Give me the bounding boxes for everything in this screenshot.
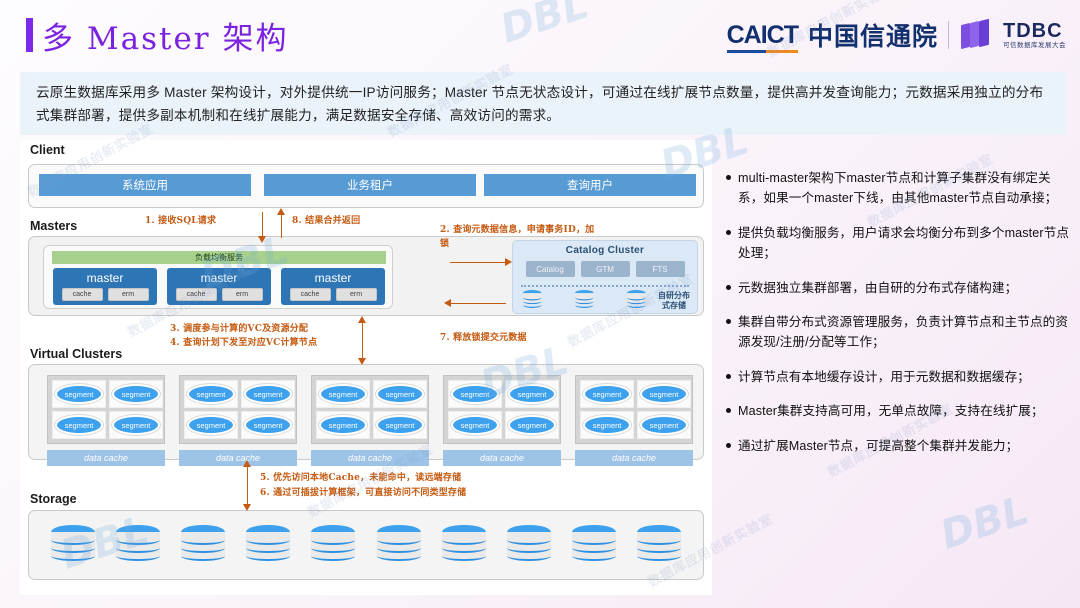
client-button-2[interactable]: 查询用户	[484, 174, 696, 196]
vc-group-2-data-cache: data cache	[311, 450, 429, 466]
vc-group-1-data-cache: data cache	[179, 450, 297, 466]
master-node-0-title: master	[53, 271, 157, 285]
storage-disk-icon	[311, 525, 355, 565]
vc-group-2[interactable]: segment segment segment segment data cac…	[311, 375, 429, 466]
client-button-0[interactable]: 系统应用	[39, 174, 251, 196]
intro-text: 云原生数据库采用多 Master 架构设计，对外提供统一IP访问服务；Maste…	[36, 81, 1050, 128]
bullet-dot-icon	[726, 285, 731, 290]
database-icon	[575, 290, 594, 304]
storage-disk-icon	[181, 525, 225, 565]
vc-group-3-data-cache: data cache	[443, 450, 561, 466]
section-label-virtual-clusters: Virtual Clusters	[30, 347, 122, 361]
annotation-2-line2: 锁	[440, 236, 449, 249]
bullet-text: multi-master架构下master节点和计算子集群没有绑定关系，如果一个…	[738, 168, 1070, 209]
catalog-cluster-title: Catalog Cluster	[513, 245, 697, 256]
vc-group-1[interactable]: segment segment segment segment data cac…	[179, 375, 297, 466]
catalog-chip-row: Catalog GTM FTS	[513, 261, 697, 277]
storage-layer-panel	[28, 510, 704, 580]
bullet-dot-icon	[726, 319, 731, 324]
bullet-item: 计算节点有本地缓存设计，用于元数据和数据缓存；	[726, 367, 1070, 387]
segment-node: segment	[640, 415, 688, 435]
vc-group-3[interactable]: segment segment segment segment data cac…	[443, 375, 561, 466]
load-balancer-bar: 负载均衡服务	[52, 251, 386, 264]
tdbc-book-icon	[959, 20, 993, 50]
segment-node: segment	[583, 415, 631, 435]
vc-group-4-segments: segment segment segment segment	[575, 375, 693, 444]
flow-arrow-2-line	[450, 262, 506, 263]
bullet-dot-icon	[726, 408, 731, 413]
segment-node: segment	[508, 384, 556, 404]
segment-node: segment	[451, 415, 499, 435]
segment-node: segment	[55, 384, 103, 404]
segment-node: segment	[376, 384, 424, 404]
vc-group-2-segments: segment segment segment segment	[311, 375, 429, 444]
segment-node: segment	[244, 415, 292, 435]
flow-arrow-56-head-down	[243, 504, 251, 511]
masters-inner-box: 负载均衡服务 master cache erm master cache erm…	[43, 245, 393, 309]
catalog-cluster-panel: Catalog Cluster Catalog GTM FTS 自研分布式存储	[512, 240, 698, 314]
annotation-5: 5. 优先访问本地Cache，未能命中，读远端存储	[260, 470, 461, 483]
vc-group-3-segments: segment segment segment segment	[443, 375, 561, 444]
vc-group-0[interactable]: segment segment segment segment data cac…	[47, 375, 165, 466]
bullet-text: 集群自带分布式资源管理服务，负责计算节点和主节点的资源发现/注册/分配等工作；	[738, 312, 1070, 353]
annotation-7: 7. 释放锁提交元数据	[440, 330, 527, 343]
annotation-3: 3. 调度参与计算的VC及资源分配	[170, 321, 308, 334]
bullet-item: 通过扩展Master节点，可提高整个集群并发能力；	[726, 436, 1070, 456]
caict-logo-mark: CAICT	[727, 21, 798, 50]
master-node-2-pill-cache: cache	[290, 288, 331, 301]
bullet-item: Master集群支持高可用，无单点故障，支持在线扩展；	[726, 401, 1070, 421]
vc-group-0-segments: segment segment segment segment	[47, 375, 165, 444]
bullet-text: 通过扩展Master节点，可提高整个集群并发能力；	[738, 436, 1018, 456]
storage-disk-row	[51, 525, 681, 565]
annotation-8: 8. 结果合并返回	[292, 213, 360, 226]
segment-node: segment	[55, 415, 103, 435]
logo-divider	[948, 21, 949, 49]
storage-disk-icon	[377, 525, 421, 565]
catalog-chip-fts[interactable]: FTS	[636, 261, 685, 277]
vc-group-0-data-cache: data cache	[47, 450, 165, 466]
segment-node: segment	[319, 384, 367, 404]
master-node-0[interactable]: master cache erm	[53, 268, 157, 305]
feature-bullet-list: multi-master架构下master节点和计算子集群没有绑定关系，如果一个…	[726, 168, 1070, 470]
bullet-item: 元数据独立集群部署，由自研的分布式存储构建；	[726, 278, 1070, 298]
master-node-0-pill-cache: cache	[62, 288, 103, 301]
segment-node: segment	[244, 384, 292, 404]
flow-arrow-34-head-down	[358, 358, 366, 365]
vc-group-4-data-cache: data cache	[575, 450, 693, 466]
vc-group-1-segments: segment segment segment segment	[179, 375, 297, 444]
segment-node: segment	[583, 384, 631, 404]
bullet-item: 集群自带分布式资源管理服务，负责计算节点和主节点的资源发现/注册/分配等工作；	[726, 312, 1070, 353]
storage-disk-icon	[116, 525, 160, 565]
title-accent-bar	[26, 18, 33, 52]
master-node-0-pill-erm: erm	[108, 288, 149, 301]
virtual-clusters-layer-panel: segment segment segment segment data cac…	[28, 364, 704, 460]
client-layer-panel: 系统应用 业务租户 查询用户	[28, 164, 704, 208]
watermark-logo: DBL	[935, 487, 1034, 558]
bullet-text: 计算节点有本地缓存设计，用于元数据和数据缓存；	[738, 367, 1030, 387]
flow-arrow-7-head	[444, 299, 451, 307]
storage-disk-icon	[637, 525, 681, 565]
vc-group-4[interactable]: segment segment segment segment data cac…	[575, 375, 693, 466]
segment-node: segment	[640, 384, 688, 404]
bullet-text: 元数据独立集群部署，由自研的分布式存储构建；	[738, 278, 1017, 298]
section-label-masters: Masters	[30, 219, 77, 233]
caict-logo-cn: 中国信通院	[808, 17, 938, 53]
annotation-2-line1: 2. 查询元数据信息，申请事务ID，加	[440, 222, 594, 235]
master-node-1[interactable]: master cache erm	[167, 268, 271, 305]
storage-disk-icon	[51, 525, 95, 565]
flow-arrow-1-line	[262, 212, 263, 238]
master-node-1-pill-erm: erm	[222, 288, 263, 301]
flow-arrow-34-head-up	[358, 316, 366, 323]
flow-arrow-2-head	[505, 258, 512, 266]
flow-arrow-56-line	[247, 464, 248, 506]
catalog-divider	[521, 285, 689, 287]
storage-disk-icon	[246, 525, 290, 565]
tdbc-subtitle: 可信数据库发展大会	[1003, 43, 1066, 50]
segment-node: segment	[112, 415, 160, 435]
bullet-dot-icon	[726, 443, 731, 448]
annotation-6: 6. 通过可插拔计算框架，可直接访问不同类型存储	[260, 485, 466, 498]
intro-banner: 云原生数据库采用多 Master 架构设计，对外提供统一IP访问服务；Maste…	[20, 72, 1066, 135]
flow-arrow-1-head	[258, 236, 266, 243]
header-logos: CAICT 中国信通院 TDBC 可信数据库发展大会	[727, 17, 1066, 53]
flow-arrow-7-line	[450, 303, 506, 304]
master-node-2[interactable]: master cache erm	[281, 268, 385, 305]
annotation-4: 4. 查询计划下发至对应VC计算节点	[170, 335, 317, 348]
flow-arrow-8-head	[277, 208, 285, 215]
bullet-text: 提供负载均衡服务，用户请求会均衡分布到多个master节点处理；	[738, 223, 1070, 264]
master-node-2-pill-erm: erm	[336, 288, 377, 301]
architecture-diagram: Client 系统应用 业务租户 查询用户 Masters 负载均衡服务 mas…	[20, 140, 712, 595]
segment-node: segment	[319, 415, 367, 435]
flow-arrow-56-head-up	[243, 460, 251, 467]
catalog-disk-row	[523, 290, 657, 312]
segment-node: segment	[508, 415, 556, 435]
storage-disk-icon	[572, 525, 616, 565]
master-node-2-title: master	[281, 271, 385, 285]
client-button-1[interactable]: 业务租户	[264, 174, 476, 196]
segment-node: segment	[187, 384, 235, 404]
catalog-storage-label: 自研分布式存储	[657, 291, 691, 311]
segment-node: segment	[451, 384, 499, 404]
page-header: 多 Master 架构 CAICT 中国信通院 TDBC 可信数据库发展大会	[0, 0, 1080, 68]
segment-node: segment	[187, 415, 235, 435]
flow-arrow-34-line	[362, 320, 363, 360]
master-node-1-pill-cache: cache	[176, 288, 217, 301]
tdbc-logo-text: TDBC 可信数据库发展大会	[1003, 21, 1066, 50]
catalog-chip-catalog[interactable]: Catalog	[526, 261, 575, 277]
segment-node: segment	[112, 384, 160, 404]
storage-disk-icon	[507, 525, 551, 565]
master-node-1-title: master	[167, 271, 271, 285]
bullet-item: 提供负载均衡服务，用户请求会均衡分布到多个master节点处理；	[726, 223, 1070, 264]
page-title: 多 Master 架构	[42, 13, 288, 58]
section-label-client: Client	[30, 143, 65, 157]
segment-node: segment	[376, 415, 424, 435]
database-icon	[627, 290, 646, 304]
database-icon	[523, 290, 542, 304]
tdbc-title: TDBC	[1003, 21, 1066, 41]
flow-arrow-8-line	[281, 212, 282, 238]
section-label-storage: Storage	[30, 492, 77, 506]
catalog-chip-gtm[interactable]: GTM	[581, 261, 630, 277]
bullet-dot-icon	[726, 230, 731, 235]
bullet-text: Master集群支持高可用，无单点故障，支持在线扩展；	[738, 401, 1044, 421]
bullet-dot-icon	[726, 374, 731, 379]
annotation-1: 1. 接收SQL请求	[145, 213, 216, 226]
bullet-item: multi-master架构下master节点和计算子集群没有绑定关系，如果一个…	[726, 168, 1070, 209]
storage-disk-icon	[442, 525, 486, 565]
bullet-dot-icon	[726, 175, 731, 180]
